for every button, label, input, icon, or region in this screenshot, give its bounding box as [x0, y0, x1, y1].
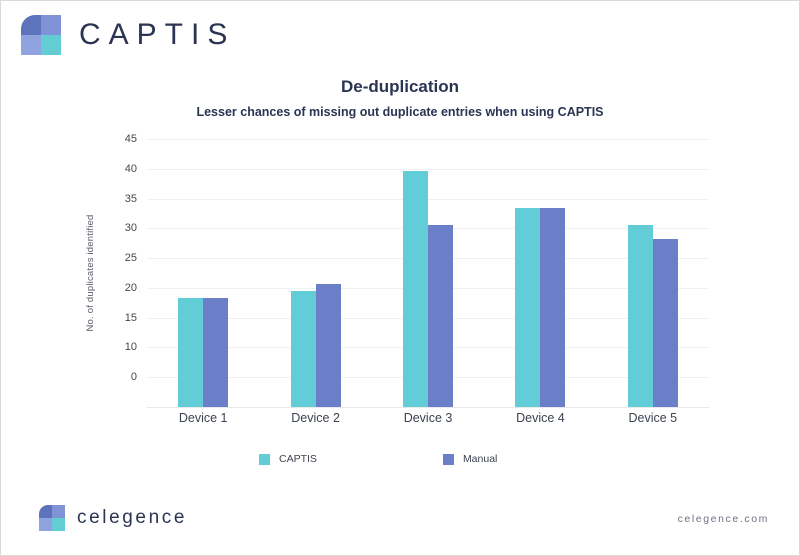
captis-wordmark: CAPTIS: [79, 18, 235, 52]
bar-manual[interactable]: [428, 225, 453, 407]
bar-manual[interactable]: [540, 208, 565, 408]
y-axis-tick-label: 40: [125, 163, 137, 175]
axis-baseline: [147, 407, 709, 408]
bar-group: [372, 139, 484, 407]
logo-quadrant-top-right: [41, 15, 61, 35]
bar-captis[interactable]: [628, 225, 653, 407]
footer-url: celegence.com: [678, 513, 769, 525]
logo-quadrant-top-left: [21, 15, 41, 35]
legend-swatch: [443, 454, 454, 465]
footer-logo-quadrant-bottom-right: [52, 518, 65, 531]
bar-group: [597, 139, 709, 407]
footer-logo-quadrant-top-right: [52, 505, 65, 518]
legend-item-manual[interactable]: Manual: [443, 453, 497, 465]
y-axis-tick-label: 30: [125, 222, 137, 234]
x-axis-tick-label: Device 2: [259, 411, 371, 425]
y-axis-tick-label: 0: [131, 371, 137, 383]
celegence-square-logo-icon: [39, 505, 65, 531]
bar-manual[interactable]: [203, 298, 228, 407]
logo-quadrant-bottom-right: [41, 35, 61, 55]
chart-page: CAPTIS De-duplication Lesser chances of …: [0, 0, 800, 556]
legend: CAPTISManual: [259, 453, 497, 465]
x-axis-tick-labels: Device 1Device 2Device 3Device 4Device 5: [147, 411, 709, 425]
footer-logo-quadrant-top-left: [39, 505, 52, 518]
y-axis-title: No. of duplicates identified: [85, 139, 101, 407]
legend-label: Manual: [463, 453, 497, 465]
legend-item-captis[interactable]: CAPTIS: [259, 453, 317, 465]
bar-group: [259, 139, 371, 407]
legend-label: CAPTIS: [279, 453, 317, 465]
footer-logo-quadrant-bottom-left: [39, 518, 52, 531]
legend-swatch: [259, 454, 270, 465]
x-axis-tick-label: Device 4: [484, 411, 596, 425]
plot-area: No. of duplicates identified 45403530252…: [89, 139, 709, 407]
footer: celegence celegence.com: [1, 497, 799, 555]
chart-title: De-duplication: [1, 77, 799, 97]
y-axis-tick-label: 45: [125, 133, 137, 145]
footer-brand: celegence: [39, 505, 187, 531]
x-axis-tick-label: Device 3: [372, 411, 484, 425]
bar-captis[interactable]: [291, 291, 316, 407]
bar-captis[interactable]: [515, 208, 540, 408]
y-axis-tick-labels: 45403530252015100: [103, 139, 137, 407]
y-axis-tick-label: 35: [125, 193, 137, 205]
bar-captis[interactable]: [403, 171, 428, 407]
chart-subtitle: Lesser chances of missing out duplicate …: [1, 105, 799, 119]
y-axis-tick-label: 25: [125, 252, 137, 264]
x-axis-tick-label: Device 1: [147, 411, 259, 425]
logo-quadrant-bottom-left: [21, 35, 41, 55]
bar-group: [147, 139, 259, 407]
y-axis-tick-label: 15: [125, 312, 137, 324]
captis-square-logo-icon: [21, 15, 61, 55]
bar-captis[interactable]: [178, 298, 203, 407]
header: CAPTIS: [21, 15, 235, 55]
celegence-wordmark: celegence: [77, 507, 187, 529]
bar-group: [484, 139, 596, 407]
bar-manual[interactable]: [653, 239, 678, 407]
bar-manual[interactable]: [316, 284, 341, 407]
y-axis-tick-label: 20: [125, 282, 137, 294]
bar-groups: [147, 139, 709, 407]
y-axis-tick-label: 10: [125, 341, 137, 353]
x-axis-tick-label: Device 5: [597, 411, 709, 425]
